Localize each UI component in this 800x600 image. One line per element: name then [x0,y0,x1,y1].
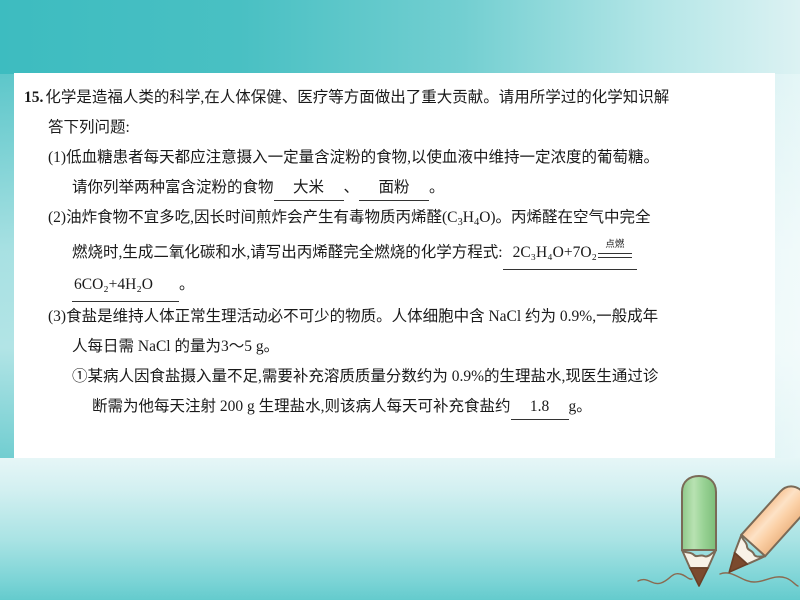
part-2-label: (2) [48,209,66,226]
part-2-text-a: 油炸食物不宜多吃,因长时间煎炸会产生有毒物质丙烯醛(C [66,209,457,226]
squiggle-line-right [720,573,798,586]
part-1-prompt: 请你列举两种富含淀粉的食物 [72,179,274,196]
stem-line-1: 化学是造福人类的科学,在人体保健、医疗等方面做出了重大贡献。请用所学过的化学知识… [45,89,669,106]
green-pencil-lead [690,568,708,586]
equation-products: 6CO₂+4H₂O [74,276,153,293]
orange-pencil [717,480,800,582]
squiggle-line-left [638,574,692,584]
reaction-double-bar [598,253,632,259]
question-15: 15. 化学是造福人类的科学,在人体保健、医疗等方面做出了重大贡献。请用所学过的… [24,83,767,113]
part-2-line-2: 燃烧时,生成二氧化碳和水,请写出丙烯醛完全燃烧的化学方程式:2C₃H₄O+7O₂… [24,238,767,270]
worksheet-content: 15. 化学是造福人类的科学,在人体保健、医疗等方面做出了重大贡献。请用所学过的… [24,83,767,422]
green-pencil-barrel [682,476,716,550]
green-pencil [682,476,716,586]
part-3-label: (3) [48,308,66,325]
worksheet-card: 15. 化学是造福人类的科学,在人体保健、医疗等方面做出了重大贡献。请用所学过的… [14,73,775,458]
part-3-line-1: (3)食盐是维持人体正常生理活动必不可少的物质。人体细胞中含 NaCl 约为 0… [24,302,767,332]
answer-blank-flour[interactable]: 面粉 [359,176,429,201]
reaction-condition-label: 点燃 [598,240,632,251]
answer-separator: 、 [344,179,360,196]
part-3-line-2: 人每日需 NaCl 的量为3～5 g。 [24,332,767,362]
part-2-line-1: (2)油炸食物不宜多吃,因长时间煎炸会产生有毒物质丙烯醛(C3H4O)。丙烯醛在… [24,203,767,238]
part-3-text-1: 食盐是维持人体正常生理活动必不可少的物质。人体细胞中含 NaCl 约为 0.9%… [66,308,658,325]
question-number: 15. [24,83,45,113]
part-2-prompt: 燃烧时,生成二氧化碳和水,请写出丙烯醛完全燃烧的化学方程式: [72,244,503,261]
pencils-svg [620,468,800,600]
part-1-line-2: 请你列举两种富含淀粉的食物大米、面粉。 [24,173,767,203]
part-3-sub-line-1: ①某病人因食盐摄入量不足,需要补充溶质质量分数约为 0.9%的生理盐水,现医生通… [24,362,767,392]
part-1-period: 。 [429,179,445,196]
sub-item-text-1: 某病人因食盐摄入量不足,需要补充溶质质量分数约为 0.9%的生理盐水,现医生通过… [88,368,659,385]
part-1-line-1: (1)低血糖患者每天都应注意摄入一定量含淀粉的食物,以使血液中维持一定浓度的葡萄… [24,143,767,173]
sub-item-unit: g。 [569,398,592,415]
answer-blank-salt-mass[interactable]: 1.8 [511,395,569,420]
part-2-period: 。 [179,276,195,293]
part-3-sub-line-2: 断需为他每天注射 200 g 生理盐水,则该病人每天可补充食盐约1.8g。 [24,392,767,422]
pencil-decoration [620,468,800,600]
equation-blank-right[interactable]: 6CO₂+4H₂O [72,270,179,302]
stem-line-2: 答下列问题: [24,113,767,143]
equation-blank-left[interactable]: 2C₃H₄O+7O₂点燃 [503,238,637,270]
question-stem: 化学是造福人类的科学,在人体保健、医疗等方面做出了重大贡献。请用所学过的化学知识… [45,83,767,113]
sub-item-label: ① [72,368,88,385]
answer-blank-rice[interactable]: 大米 [274,176,344,201]
top-teal-band [0,0,800,74]
part-2-line-3: 6CO₂+4H₂O。 [24,270,767,302]
green-pencil-wood [682,550,716,568]
equation-reactants: 2C₃H₄O+7O₂ [513,244,597,261]
part-2-text-c: O)。丙烯醛在空气中完全 [479,209,650,226]
page-root: 15. 化学是造福人类的科学,在人体保健、医疗等方面做出了重大贡献。请用所学过的… [0,0,800,600]
part-2-text-b: H [463,209,474,226]
sub-item-prompt: 断需为他每天注射 200 g 生理盐水,则该病人每天可补充食盐约 [92,398,511,415]
orange-pencil-barrel [741,480,800,556]
part-1-text: 低血糖患者每天都应注意摄入一定量含淀粉的食物,以使血液中维持一定浓度的葡萄糖。 [66,149,659,166]
part-1-label: (1) [48,149,66,166]
